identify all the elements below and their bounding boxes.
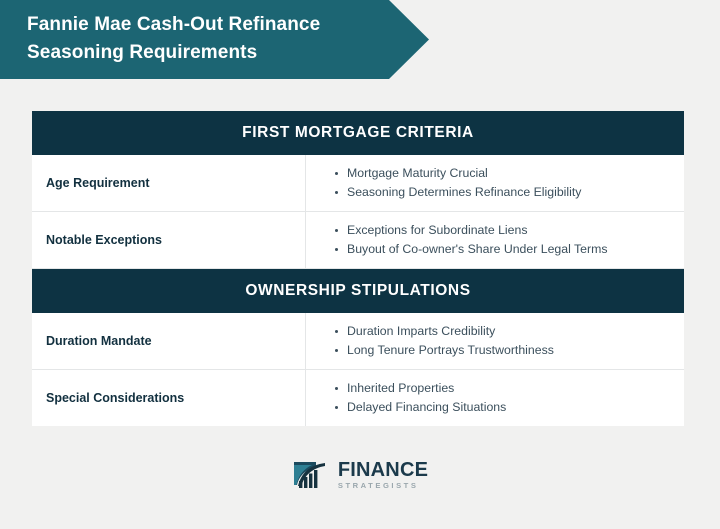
header-banner: Fannie Mae Cash-Out Refinance Seasoning … <box>0 0 430 79</box>
list-item: Long Tenure Portrays Trustworthiness <box>334 341 674 360</box>
table-row: Age Requirement Mortgage Maturity Crucia… <box>32 155 684 212</box>
list-item: Exceptions for Subordinate Liens <box>334 221 674 240</box>
table-row: Duration Mandate Duration Imparts Credib… <box>32 313 684 370</box>
row-label: Age Requirement <box>32 155 306 211</box>
row-label: Special Considerations <box>32 370 306 426</box>
row-items: Exceptions for Subordinate Liens Buyout … <box>306 212 684 268</box>
list-item: Duration Imparts Credibility <box>334 322 674 341</box>
section-header-ownership-stipulations: OWNERSHIP STIPULATIONS <box>32 269 684 313</box>
row-label: Notable Exceptions <box>32 212 306 268</box>
row-items: Duration Imparts Credibility Long Tenure… <box>306 313 684 369</box>
page-title: Fannie Mae Cash-Out Refinance Seasoning … <box>27 11 387 67</box>
list-item: Seasoning Determines Refinance Eligibili… <box>334 183 674 202</box>
brand-logo-primary: FINANCE <box>338 460 428 480</box>
brand-logo-text: FINANCE STRATEGISTS <box>338 460 428 490</box>
row-items: Mortgage Maturity Crucial Seasoning Dete… <box>306 155 684 211</box>
section-header-first-mortgage-criteria: FIRST MORTGAGE CRITERIA <box>32 111 684 155</box>
row-items: Inherited Properties Delayed Financing S… <box>306 370 684 426</box>
brand-logo: FINANCE STRATEGISTS <box>0 459 720 491</box>
list-item: Delayed Financing Situations <box>334 398 674 417</box>
row-label: Duration Mandate <box>32 313 306 369</box>
page-title-line-2: Seasoning Requirements <box>27 39 387 67</box>
list-item: Inherited Properties <box>334 379 674 398</box>
finance-strategists-logo-icon <box>292 459 332 491</box>
brand-logo-secondary: STRATEGISTS <box>338 482 428 490</box>
table-row: Notable Exceptions Exceptions for Subord… <box>32 212 684 269</box>
list-item: Buyout of Co-owner's Share Under Legal T… <box>334 240 674 259</box>
list-item: Mortgage Maturity Crucial <box>334 164 674 183</box>
page-title-line-1: Fannie Mae Cash-Out Refinance <box>27 11 387 39</box>
requirements-table: FIRST MORTGAGE CRITERIA Age Requirement … <box>32 111 684 426</box>
table-row: Special Considerations Inherited Propert… <box>32 370 684 426</box>
